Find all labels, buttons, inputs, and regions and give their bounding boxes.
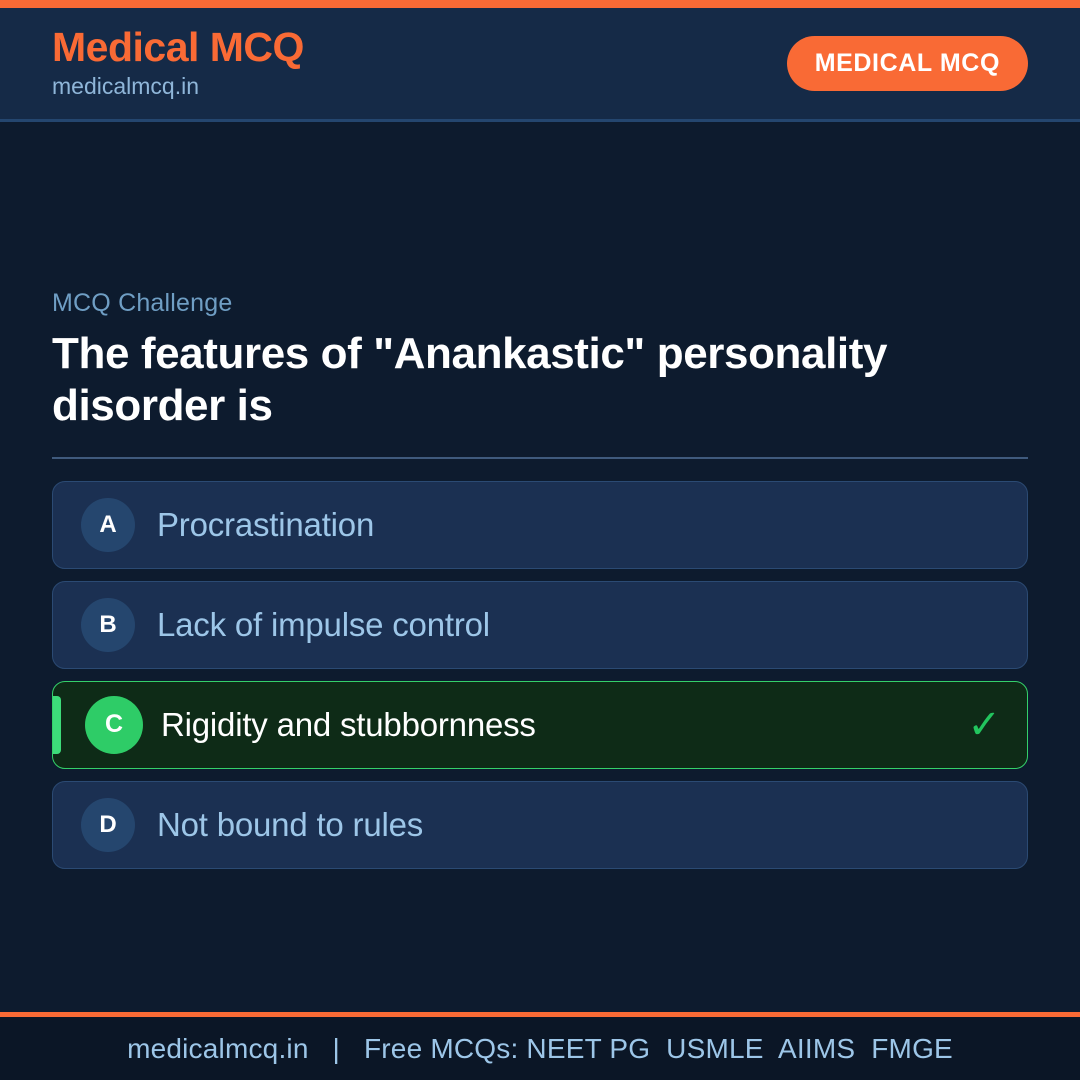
question-divider bbox=[52, 457, 1028, 459]
option-letter-badge: B bbox=[81, 598, 135, 652]
option-label: Lack of impulse control bbox=[157, 606, 955, 644]
footer: medicalmcq.in | Free MCQs: NEET PG USMLE… bbox=[0, 1017, 1080, 1080]
option-letter-badge: D bbox=[81, 798, 135, 852]
header-badge: MEDICAL MCQ bbox=[787, 36, 1028, 91]
option-letter-badge: A bbox=[81, 498, 135, 552]
option-c[interactable]: C Rigidity and stubbornness ✓ bbox=[52, 681, 1028, 769]
brand-subtitle: medicalmcq.in bbox=[52, 72, 304, 102]
option-b[interactable]: B Lack of impulse control ✓ bbox=[52, 581, 1028, 669]
mcq-card: Medical MCQ medicalmcq.in MEDICAL MCQ MC… bbox=[0, 0, 1080, 1080]
option-label: Procrastination bbox=[157, 506, 955, 544]
question-block: MCQ Challenge The features of "Anankasti… bbox=[52, 289, 1028, 432]
option-label: Rigidity and stubbornness bbox=[161, 706, 955, 744]
eyebrow-label: MCQ Challenge bbox=[52, 289, 1028, 318]
option-letter-badge: C bbox=[85, 696, 143, 754]
main-content: MCQ Challenge The features of "Anankasti… bbox=[0, 122, 1080, 1012]
brand: Medical MCQ medicalmcq.in bbox=[52, 25, 304, 101]
footer-text: medicalmcq.in | Free MCQs: NEET PG USMLE… bbox=[127, 1033, 953, 1065]
header: Medical MCQ medicalmcq.in MEDICAL MCQ bbox=[0, 8, 1080, 122]
check-icon: ✓ bbox=[967, 705, 1001, 745]
question-text: The features of "Anankastic" personality… bbox=[52, 328, 952, 432]
option-d[interactable]: D Not bound to rules ✓ bbox=[52, 781, 1028, 869]
option-label: Not bound to rules bbox=[157, 806, 955, 844]
options-list: A Procrastination ✓ B Lack of impulse co… bbox=[52, 481, 1028, 869]
correct-accent-bar bbox=[53, 696, 61, 754]
top-accent-bar bbox=[0, 0, 1080, 8]
option-a[interactable]: A Procrastination ✓ bbox=[52, 481, 1028, 569]
brand-title: Medical MCQ bbox=[52, 25, 304, 69]
